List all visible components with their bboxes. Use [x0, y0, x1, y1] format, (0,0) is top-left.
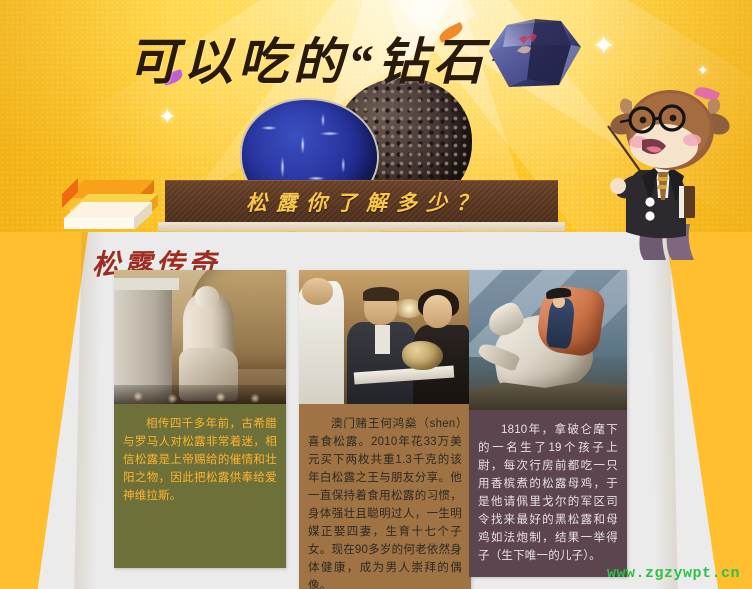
story-card[interactable]: 1810年，拿破仑麾下的一名生了19个孩子上尉，每次行房前都吃一只用香槟煮的松露… [469, 270, 627, 577]
subtitle-banner: 松露你了解多少？ [165, 180, 558, 222]
subtitle-banner-base [158, 222, 565, 231]
man-shirt [375, 325, 390, 354]
story-card-list: 相传四千多年前，古希腊与罗马人对松露非常着迷，相信松露是上帝赐给的催情和壮阳之物… [0, 270, 752, 580]
subtitle-banner-text: 松露你了解多少？ [237, 187, 486, 217]
venus-de-milo-photo [114, 270, 286, 404]
site-watermark: www.zgzywpt.cn [607, 565, 740, 582]
stanley-ho-truffle-photo [299, 270, 471, 404]
story-card-text: 相传四千多年前，古希腊与罗马人对松露非常着迷，相信松露是上帝赐给的催情和壮阳之物… [114, 404, 286, 568]
sparkle-icon: ✦ [158, 106, 176, 128]
book-stack-icon [62, 168, 167, 230]
museum-visitors [114, 385, 286, 404]
chef-head [302, 278, 333, 305]
promo-page: 可以吃的“钻石” ✦ ✦ ✦ [0, 0, 752, 589]
man-hair [363, 287, 399, 300]
story-card-text: 澳门赌王何鸿燊（shen）喜食松露。2010年花33万美元买下两枚共重1.3千克… [299, 404, 471, 589]
woman-head [423, 295, 452, 327]
napoleon-crossing-alps-photo [469, 270, 627, 410]
story-card[interactable]: 相传四千多年前，古希腊与罗马人对松露非常着迷，相信松露是上帝赐给的催情和壮阳之物… [114, 270, 286, 568]
sparkle-icon: ✦ [697, 63, 709, 77]
page-title: 可以吃的“钻石” [128, 22, 518, 94]
story-card[interactable]: 澳门赌王何鸿燊（shen）喜食松露。2010年花33万美元买下两枚共重1.3千克… [299, 270, 471, 589]
story-card-text: 1810年，拿破仑麾下的一名生了19个孩子上尉，每次行房前都吃一只用香槟煮的松露… [469, 410, 627, 577]
diamond-gem-icon [487, 17, 583, 91]
professor-cow-mascot-icon [596, 78, 746, 263]
sparkle-icon: ✦ [592, 32, 615, 60]
pillar-cap [114, 278, 179, 290]
venus-statue-head [195, 286, 219, 307]
